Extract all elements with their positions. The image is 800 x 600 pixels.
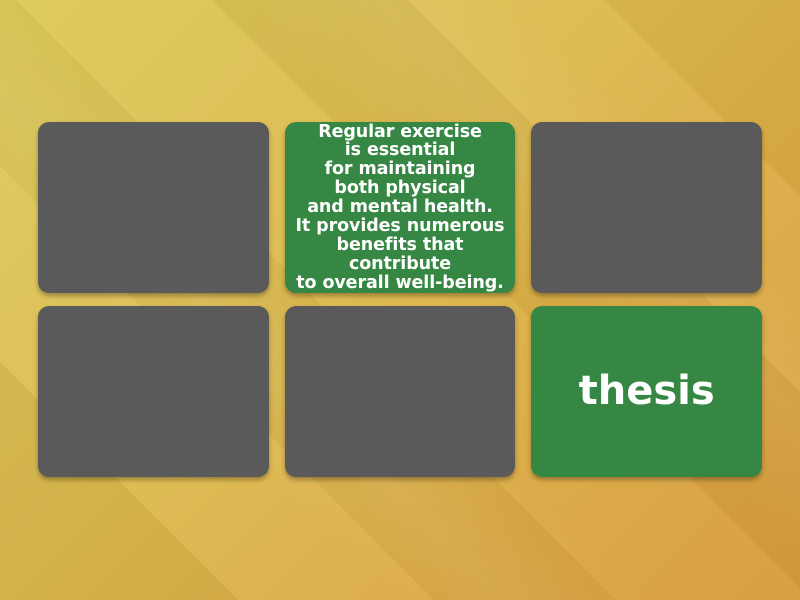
card-grid: Regular exercise is essential for mainta… [38,122,762,477]
card-2[interactable]: Regular exercise is essential for mainta… [285,122,516,293]
card-6-label: thesis [573,366,721,417]
card-5-label [394,388,406,396]
card-4[interactable] [38,306,269,477]
card-6[interactable]: thesis [531,306,762,477]
card-4-label [147,388,159,396]
card-1[interactable] [38,122,269,293]
card-3-label [641,204,653,212]
card-1-label [147,204,159,212]
card-2-label: Regular exercise is essential for mainta… [285,122,516,293]
game-board-stage: Regular exercise is essential for mainta… [0,0,800,600]
card-5[interactable] [285,306,516,477]
card-3[interactable] [531,122,762,293]
